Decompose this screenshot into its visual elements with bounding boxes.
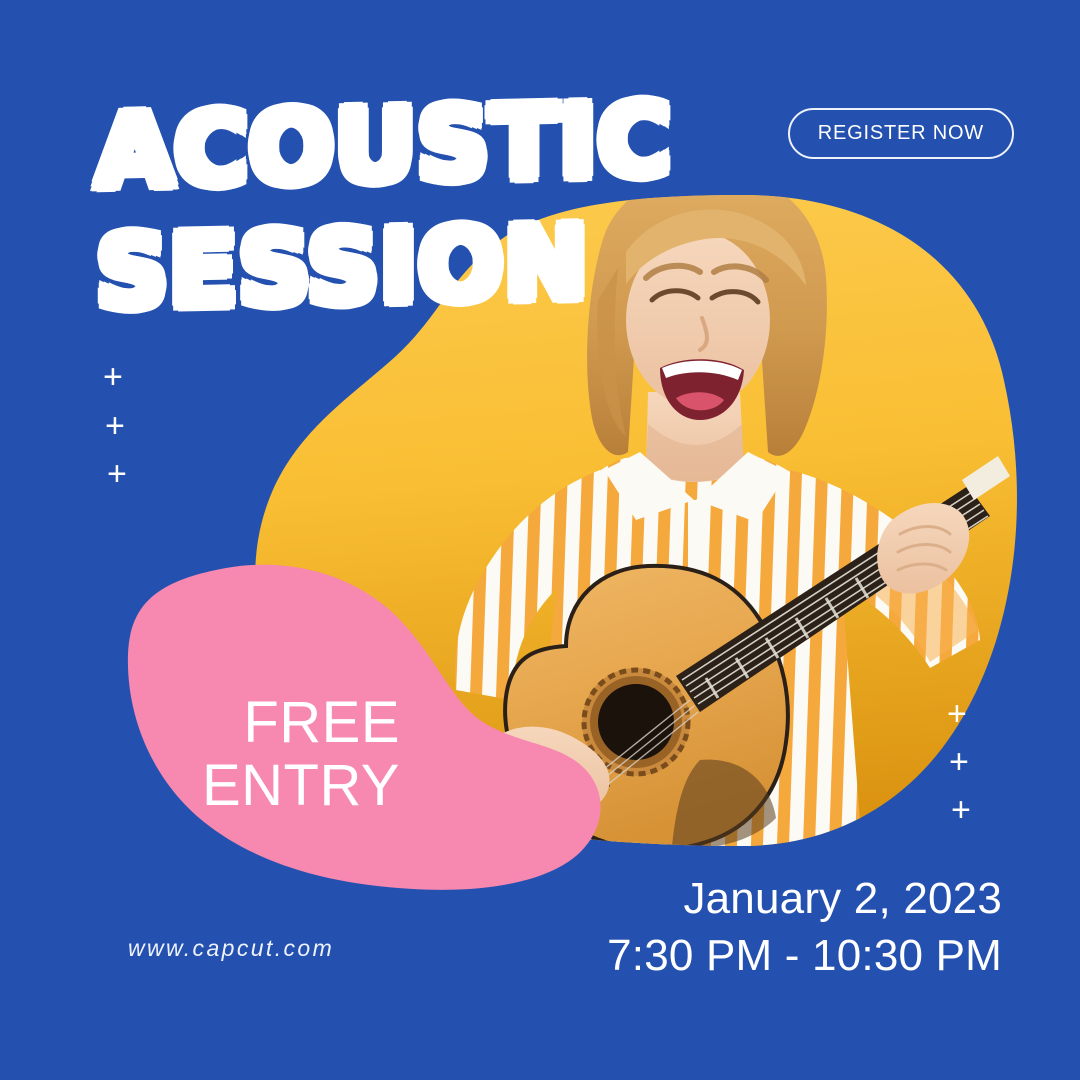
title-line-1: ACOUSTIC bbox=[96, 92, 696, 200]
plus-icon: + bbox=[947, 697, 967, 731]
event-info: January 2, 2023 7:30 PM - 10:30 PM bbox=[607, 871, 1002, 984]
plus-icon: + bbox=[949, 745, 969, 779]
free-entry-badge: FREE ENTRY bbox=[150, 692, 400, 817]
page-title: ACOUSTIC SESSION bbox=[96, 92, 696, 321]
poster-canvas: ACOUSTIC SESSION REGISTER NOW FREE ENTRY… bbox=[0, 0, 1080, 1080]
free-entry-line-1: FREE bbox=[150, 692, 400, 755]
title-line-2: SESSION bbox=[96, 213, 696, 321]
website-url: www.capcut.com bbox=[128, 935, 334, 962]
event-time: 7:30 PM - 10:30 PM bbox=[607, 928, 1002, 984]
plus-icon: + bbox=[103, 360, 123, 394]
plus-icon: + bbox=[951, 793, 971, 827]
plus-icon: + bbox=[105, 409, 125, 443]
register-now-button[interactable]: REGISTER NOW bbox=[788, 108, 1014, 159]
plus-icon: + bbox=[107, 457, 127, 491]
free-entry-line-2: ENTRY bbox=[150, 755, 400, 818]
event-date: January 2, 2023 bbox=[607, 871, 1002, 927]
